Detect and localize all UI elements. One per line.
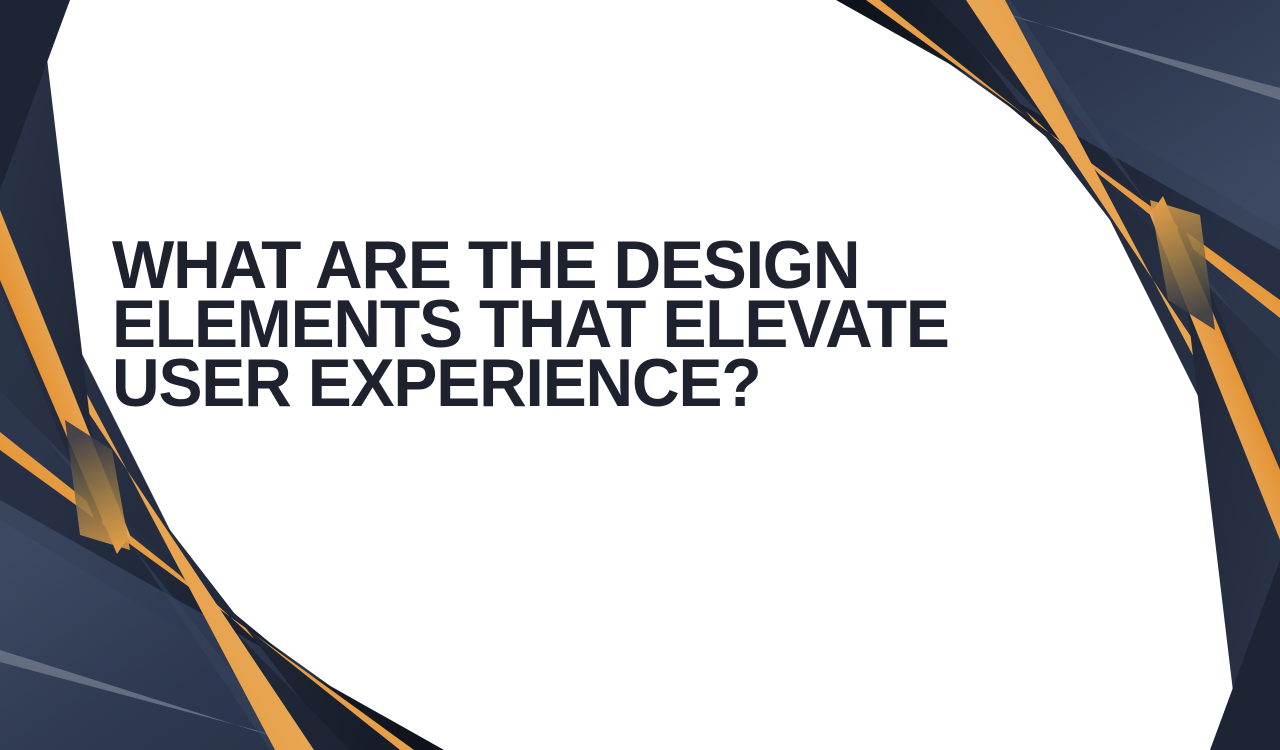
gold-navy-fade-joint [1150, 200, 1215, 330]
gold-navy-fade-joint [65, 420, 130, 550]
gold-stripe-main [966, 0, 1280, 520]
navy-tail-top-left [0, 0, 70, 190]
gold-stripe-upper [0, 405, 414, 750]
navy-panel-2 [0, 520, 380, 750]
navy-panel-dark-1 [0, 420, 444, 750]
slide-canvas: WHAT ARE THE DESIGN ELEMENTS THAT ELEVAT… [0, 0, 1280, 750]
gray-accent-stripe [0, 650, 330, 750]
navy-panel-light-sliver [985, 0, 1280, 400]
gold-wedge-ascender [0, 210, 130, 554]
gold-wedge-descender [1150, 196, 1280, 540]
navy-wedge-ascender [0, 0, 105, 545]
navy-wedge-descender [1175, 205, 1280, 750]
gray-accent-stripe [950, 0, 1280, 100]
page-title-line-3: USER EXPERIENCE? [112, 354, 985, 413]
navy-tail-bottom-right [1210, 560, 1280, 750]
navy-panel-1 [0, 450, 420, 750]
navy-panel-2 [900, 0, 1280, 230]
page-title: WHAT ARE THE DESIGN ELEMENTS THAT ELEVAT… [112, 236, 1012, 413]
